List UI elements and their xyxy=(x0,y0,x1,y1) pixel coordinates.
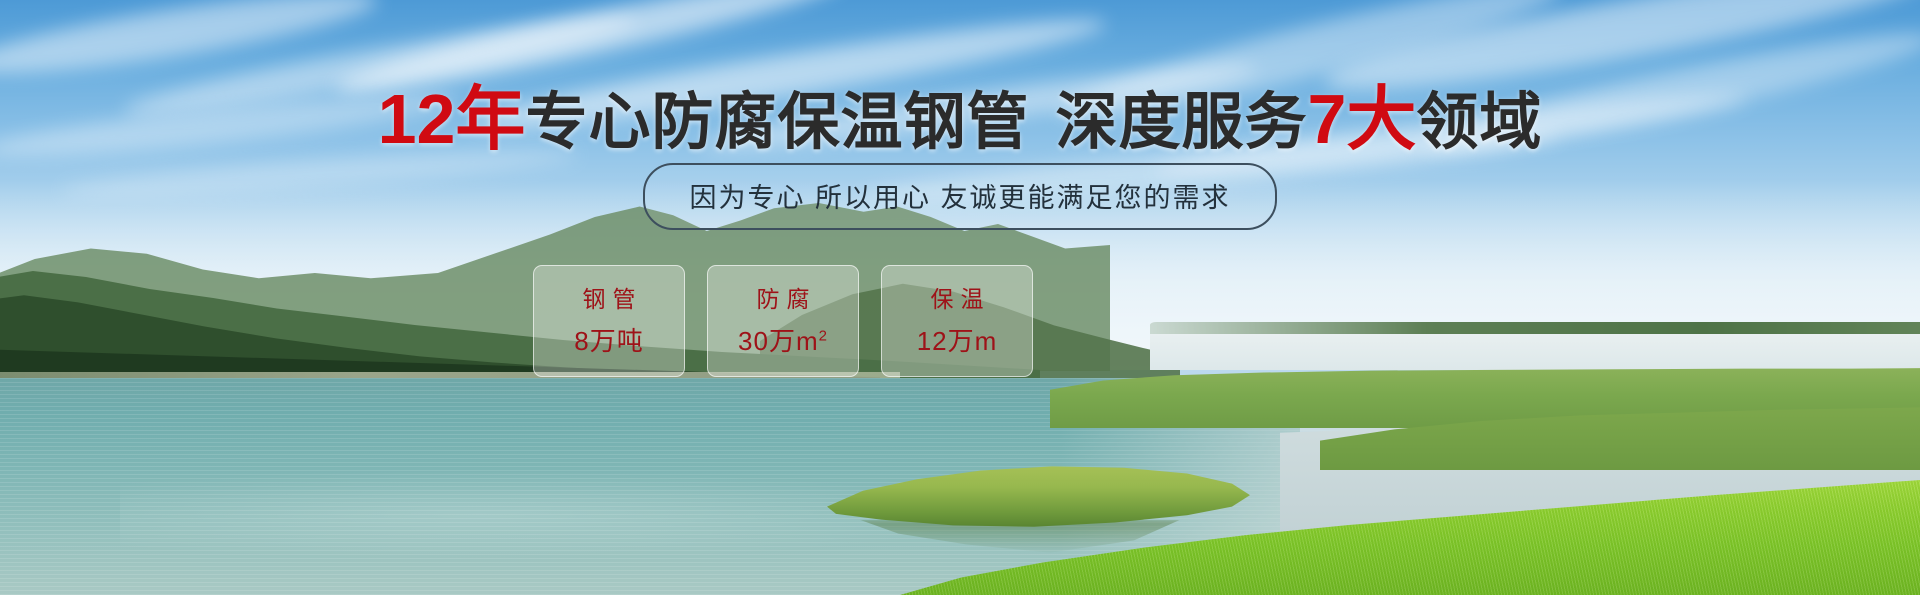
headline: 12年专心防腐保温钢管深度服务7大领域 xyxy=(0,84,1920,154)
headline-fields-count: 7大 xyxy=(1307,80,1416,158)
headline-part-1: 专心防腐保温钢管 xyxy=(525,88,1029,157)
stat-card-value: 12万m xyxy=(917,328,998,354)
headline-part-2: 深度服务 xyxy=(1055,88,1307,157)
stat-card-value-text: 8万吨 xyxy=(574,326,643,356)
stat-card[interactable]: 钢管 8万吨 xyxy=(533,265,685,377)
banner-content: 12年专心防腐保温钢管深度服务7大领域 因为专心 所以用心 友诚更能满足您的需求… xyxy=(0,0,1920,595)
subline-pill: 因为专心 所以用心 友诚更能满足您的需求 xyxy=(643,163,1276,230)
stat-card-value-sup: 2 xyxy=(819,327,828,344)
headline-part-3: 领域 xyxy=(1416,88,1542,157)
stat-card-value: 30万m2 xyxy=(738,328,828,354)
subline-wrapper: 因为专心 所以用心 友诚更能满足您的需求 xyxy=(0,163,1920,230)
stat-card[interactable]: 保温 12万m xyxy=(881,265,1033,377)
stat-card[interactable]: 防腐 30万m2 xyxy=(707,265,859,377)
stat-card-title: 钢管 xyxy=(576,288,643,311)
stat-card-value-text: 12万m xyxy=(917,326,998,356)
stat-card-value-text: 30万m xyxy=(738,326,819,356)
hero-banner: 12年专心防腐保温钢管深度服务7大领域 因为专心 所以用心 友诚更能满足您的需求… xyxy=(0,0,1920,595)
stat-card-title: 防腐 xyxy=(750,288,817,311)
stat-card-value: 8万吨 xyxy=(574,328,643,354)
stat-card-group: 钢管 8万吨 防腐 30万m2 保温 12万m xyxy=(533,265,1053,377)
stat-card-title: 保温 xyxy=(924,288,991,311)
headline-years: 12年 xyxy=(378,80,526,158)
